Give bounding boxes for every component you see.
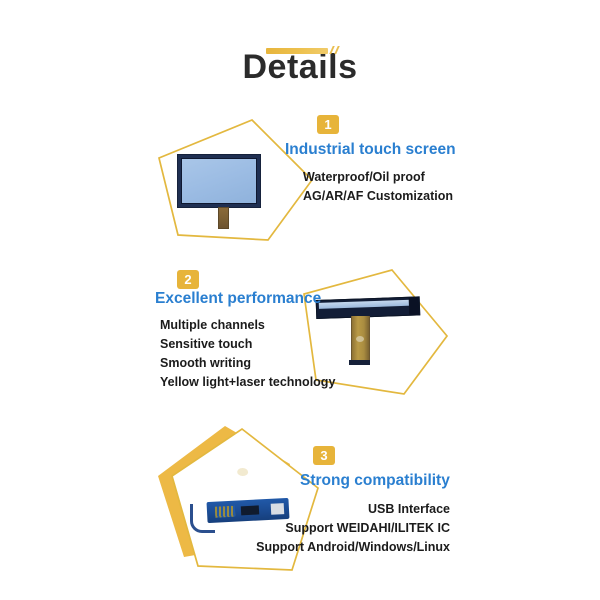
touch-panel-fpc-foot [349, 360, 370, 365]
section-heading-1: Industrial touch screen [285, 140, 456, 159]
touch-screen-fpc-tail [218, 207, 229, 229]
section-1-line-1: Waterproof/Oil proof [303, 168, 453, 187]
section-heading-2: Excellent performance [155, 289, 321, 308]
touch-screen-photo [177, 154, 261, 208]
touch-panel-fpc-tail [351, 316, 370, 363]
section-copy-2: Multiple channels Sensitive touch Smooth… [160, 316, 335, 392]
step-badge-2: 2 [177, 270, 199, 289]
touch-screen-glass [181, 158, 257, 204]
section-2-line-1: Multiple channels [160, 316, 335, 335]
section-2-line-2: Sensitive touch [160, 335, 335, 354]
section-2-line-3: Smooth writing [160, 354, 335, 373]
title-underline-dashes [330, 46, 346, 55]
step-badge-1: 1 [317, 115, 339, 134]
section-heading-3: Strong compatibility [300, 471, 450, 490]
touch-panel-edge-cap [409, 297, 420, 314]
section-copy-1: Waterproof/Oil proof AG/AR/AF Customizat… [303, 168, 453, 206]
section-2-line-4: Yellow light+laser technology [160, 373, 335, 392]
section-3-line-2: Support WEIDAHI/ILITEK IC [215, 519, 450, 538]
section-copy-3: USB Interface Support WEIDAHI/ILITEK IC … [215, 500, 450, 557]
section-3-line-3: Support Android/Windows/Linux [215, 538, 450, 557]
section-1-line-2: AG/AR/AF Customization [303, 187, 453, 206]
touch-panel-edge-glass [319, 300, 411, 309]
step-badge-3: 3 [313, 446, 335, 465]
flex-cable-photo [227, 445, 260, 504]
title-underline [266, 48, 328, 54]
section-3-line-1: USB Interface [215, 500, 450, 519]
details-infographic: Details 1 Industrial touch screen Waterp… [0, 0, 600, 600]
